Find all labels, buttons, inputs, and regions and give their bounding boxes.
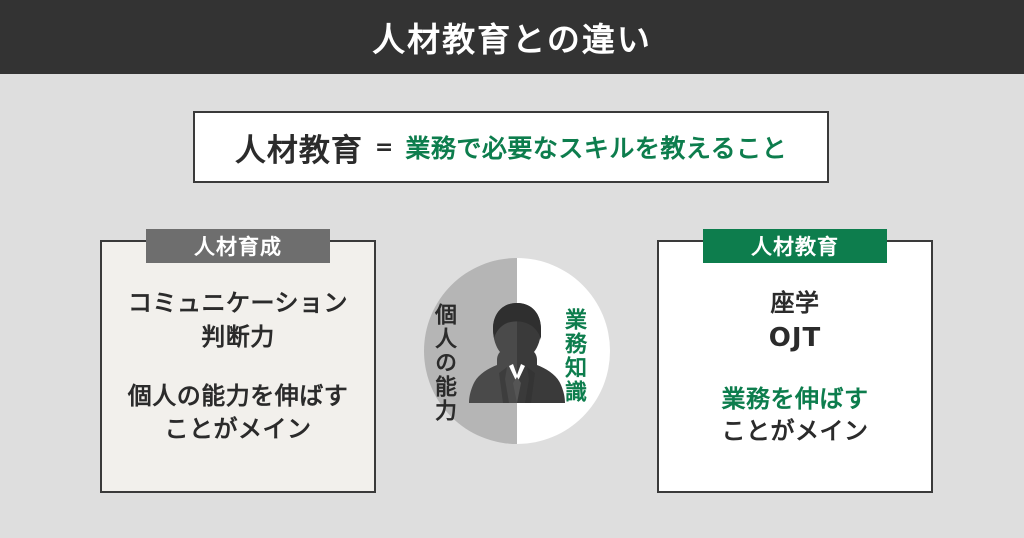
page-title: 人材教育との違い xyxy=(372,13,652,61)
center-label-left: 個人の能力 xyxy=(432,303,454,423)
panel-right-conclusion: 業務を伸ばす ことがメイン xyxy=(722,383,869,448)
definition-box: 人材教育 = 業務で必要なスキルを教えること xyxy=(193,111,829,183)
conclusion-line-1: 業務を伸ばす xyxy=(722,383,869,415)
conclusion-line-1: 個人の能力を伸ばす xyxy=(128,380,349,412)
panel-right-tab: 人材教育 xyxy=(703,229,887,263)
panel-left-conclusion: 個人の能力を伸ばす ことがメイン xyxy=(128,380,349,445)
panel-right-body: 座学 OJT 業務を伸ばす ことがメイン xyxy=(659,286,931,448)
equals-sign: = xyxy=(375,135,393,160)
definition-term: 人材教育 xyxy=(235,125,363,170)
person-silhouette-icon xyxy=(469,299,565,403)
definition-meaning: 業務で必要なスキルを教えること xyxy=(405,129,787,165)
conclusion-line-2: ことがメイン xyxy=(165,413,312,445)
list-item: コミュニケーション xyxy=(128,286,348,320)
conclusion-line-2: ことがメイン xyxy=(722,415,869,447)
center-label-right: 業務知識 xyxy=(562,308,584,404)
title-bar: 人材教育との違い xyxy=(0,0,1024,74)
list-item: OJT xyxy=(769,320,822,357)
panel-jinzai-kyoiku: 人材教育 座学 OJT 業務を伸ばす ことがメイン xyxy=(657,240,933,493)
list-item: 座学 xyxy=(771,286,820,320)
list-item: 判断力 xyxy=(201,320,275,354)
panel-left-body: コミュニケーション 判断力 個人の能力を伸ばす ことがメイン xyxy=(102,286,374,445)
panel-jinzai-ikusei: 人材育成 コミュニケーション 判断力 個人の能力を伸ばす ことがメイン xyxy=(100,240,376,493)
panel-left-tab: 人材育成 xyxy=(146,229,330,263)
